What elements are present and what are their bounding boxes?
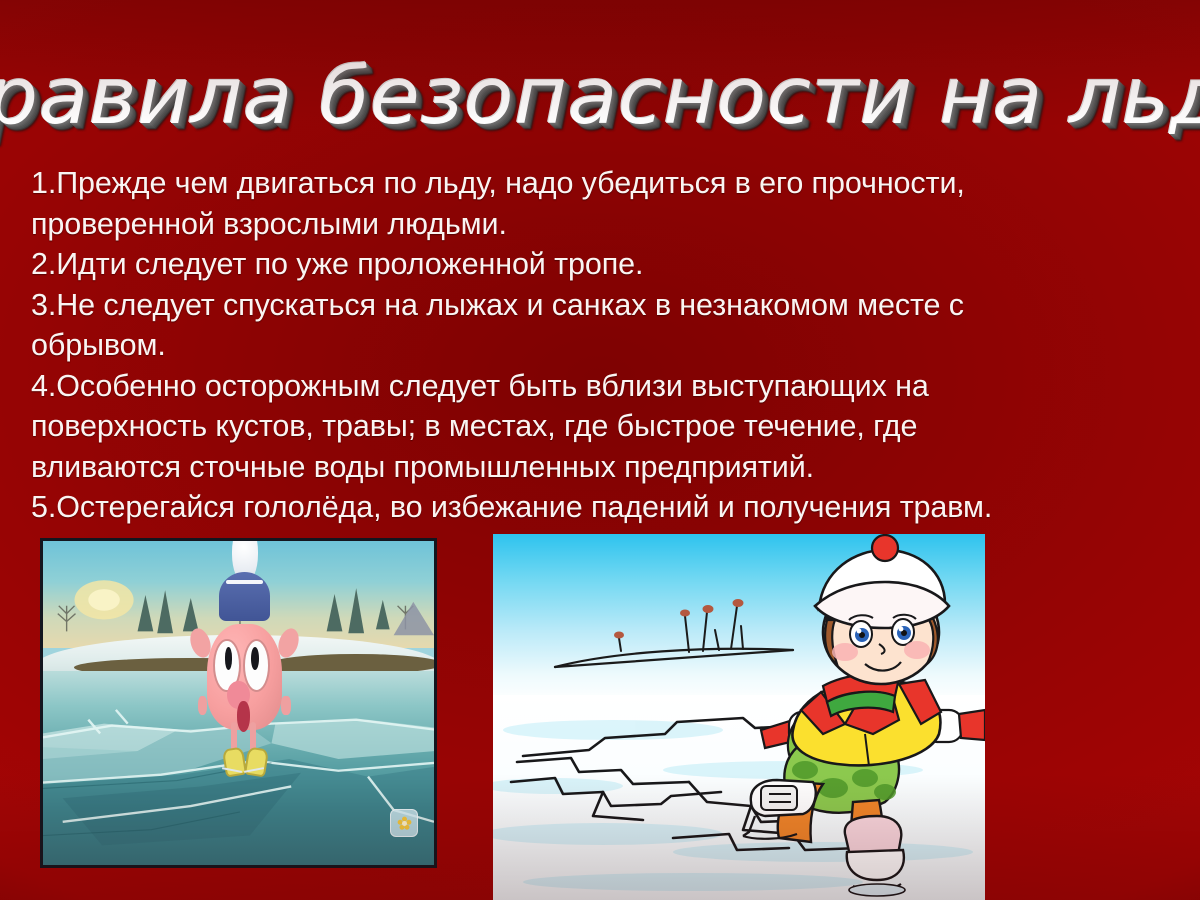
rule-line: 1.Прежде чем двигаться по льду, надо убе… <box>31 163 1171 204</box>
hat-pompom <box>872 535 898 561</box>
girl-figure <box>743 535 985 896</box>
skate-boot <box>847 850 904 880</box>
pig-character <box>201 583 287 771</box>
rule-line: поверхность кустов, травы; в местах, где… <box>31 406 1171 447</box>
pig-arm <box>281 696 290 715</box>
presentation-slide: Правила безопасности на льду 1.Прежде че… <box>0 0 1200 900</box>
pig-pupil <box>225 647 233 670</box>
page-title: Правила безопасности на льду <box>0 58 1200 136</box>
cartoon-girl-image <box>493 534 985 900</box>
shoreline <box>555 649 793 667</box>
girl-skating-scene <box>493 534 985 900</box>
skate-shadow <box>849 884 905 896</box>
rule-line: 4.Особенно осторожным следует быть вблиз… <box>31 366 1171 407</box>
rule-line: 5.Остерегайся гололёда, во избежание пад… <box>31 487 1171 528</box>
flower-glyph <box>397 816 412 831</box>
slide-title-container: Правила безопасности на льду <box>0 42 1200 152</box>
pig-arm <box>198 696 207 715</box>
reed-heads <box>614 599 744 639</box>
cheek-left <box>832 643 858 661</box>
girl-head <box>815 535 949 684</box>
pig-pupil <box>251 647 259 670</box>
flower-logo-icon <box>390 809 418 837</box>
winter-hat <box>219 572 271 621</box>
hat-band <box>226 580 263 584</box>
cartoon-pig-image <box>40 538 437 868</box>
ice-skate <box>222 747 247 778</box>
rule-line: 3.Не следует спускаться на лыжах и санка… <box>31 285 1171 326</box>
rule-line: 2.Идти следует по уже проложенной тропе. <box>31 244 1171 285</box>
rule-line: вливаются сточные воды промышленных пред… <box>31 447 1171 488</box>
cheek-right <box>904 641 930 659</box>
rule-line: проверенной взрослыми людьми. <box>31 204 1171 245</box>
rule-line: обрывом. <box>31 325 1171 366</box>
rules-text-block: 1.Прежде чем двигаться по льду, надо убе… <box>31 163 1171 528</box>
